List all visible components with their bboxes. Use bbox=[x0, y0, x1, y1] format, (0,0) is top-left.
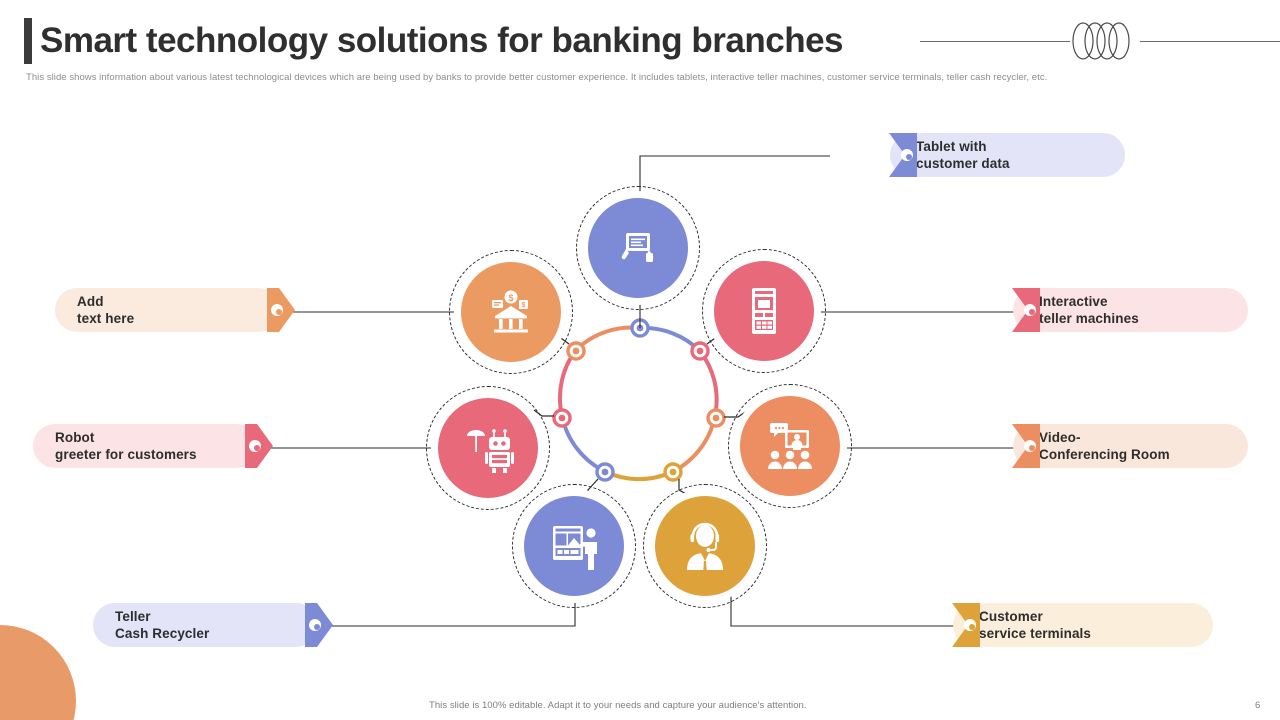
label-interactive-teller-machines[interactable]: Interactive teller machines bbox=[1013, 288, 1248, 332]
atm-machine-icon bbox=[741, 285, 787, 337]
pill-arrow-dot bbox=[1024, 440, 1036, 452]
svg-text:$: $ bbox=[522, 302, 526, 309]
pill-arrow-dot bbox=[964, 619, 976, 631]
corner-decoration bbox=[0, 625, 80, 720]
label-video-conferencing-room[interactable]: Video- Conferencing Room bbox=[1013, 424, 1248, 468]
robot-icon bbox=[461, 422, 515, 474]
kiosk-person-icon bbox=[547, 521, 601, 571]
label-add-text-here[interactable]: Add text here bbox=[55, 288, 280, 332]
node-disc bbox=[524, 496, 624, 596]
pill-arrow-dot bbox=[1024, 304, 1036, 316]
pill-arrow-dot bbox=[309, 619, 321, 631]
label-customer-service-terminals[interactable]: Customer service terminals bbox=[953, 603, 1213, 647]
video-conference-icon bbox=[763, 421, 817, 471]
node-atm[interactable] bbox=[714, 261, 814, 361]
label-text: Add text here bbox=[55, 293, 134, 327]
title-accent-bar bbox=[24, 18, 32, 64]
circular-process-diagram: $ $ bbox=[0, 100, 1280, 670]
label-text: Teller Cash Recycler bbox=[93, 608, 209, 642]
node-robot[interactable] bbox=[438, 398, 538, 498]
bank-money-icon: $ $ bbox=[485, 286, 537, 338]
node-headset-agent[interactable] bbox=[655, 496, 755, 596]
footer-note: This slide is 100% editable. Adapt it to… bbox=[429, 700, 807, 711]
pill-arrow-dot bbox=[901, 149, 913, 161]
label-text: Robot greeter for customers bbox=[33, 429, 197, 463]
node-disc bbox=[655, 496, 755, 596]
label-robot-greeter-for-customers[interactable]: Robot greeter for customers bbox=[33, 424, 258, 468]
title-rule-right bbox=[1140, 41, 1280, 42]
pill-arrow-dot bbox=[249, 440, 261, 452]
svg-text:$: $ bbox=[508, 293, 513, 303]
node-tablet[interactable] bbox=[588, 198, 688, 298]
node-bank[interactable]: $ $ bbox=[461, 262, 561, 362]
node-video-conference[interactable] bbox=[740, 396, 840, 496]
label-tablet-with-customer-data[interactable]: Tablet with customer data bbox=[890, 133, 1125, 177]
node-disc bbox=[740, 396, 840, 496]
node-disc bbox=[714, 261, 814, 361]
header-decoration-icon bbox=[1065, 18, 1145, 64]
page-number: 6 bbox=[1255, 700, 1260, 711]
node-disc: $ $ bbox=[461, 262, 561, 362]
node-disc bbox=[588, 198, 688, 298]
slide-header: Smart technology solutions for banking b… bbox=[0, 0, 1280, 66]
node-kiosk[interactable] bbox=[524, 496, 624, 596]
headset-agent-icon bbox=[680, 520, 730, 572]
corner-decoration-shape bbox=[0, 625, 76, 720]
page-title: Smart technology solutions for banking b… bbox=[40, 18, 843, 64]
node-disc bbox=[438, 398, 538, 498]
title-rule-left bbox=[920, 41, 1070, 42]
pill-arrow-dot bbox=[271, 304, 283, 316]
tablet-in-hands-icon bbox=[613, 223, 663, 273]
label-teller-cash-recycler[interactable]: Teller Cash Recycler bbox=[93, 603, 318, 647]
slide-subtitle: This slide shows information about vario… bbox=[26, 71, 1226, 85]
